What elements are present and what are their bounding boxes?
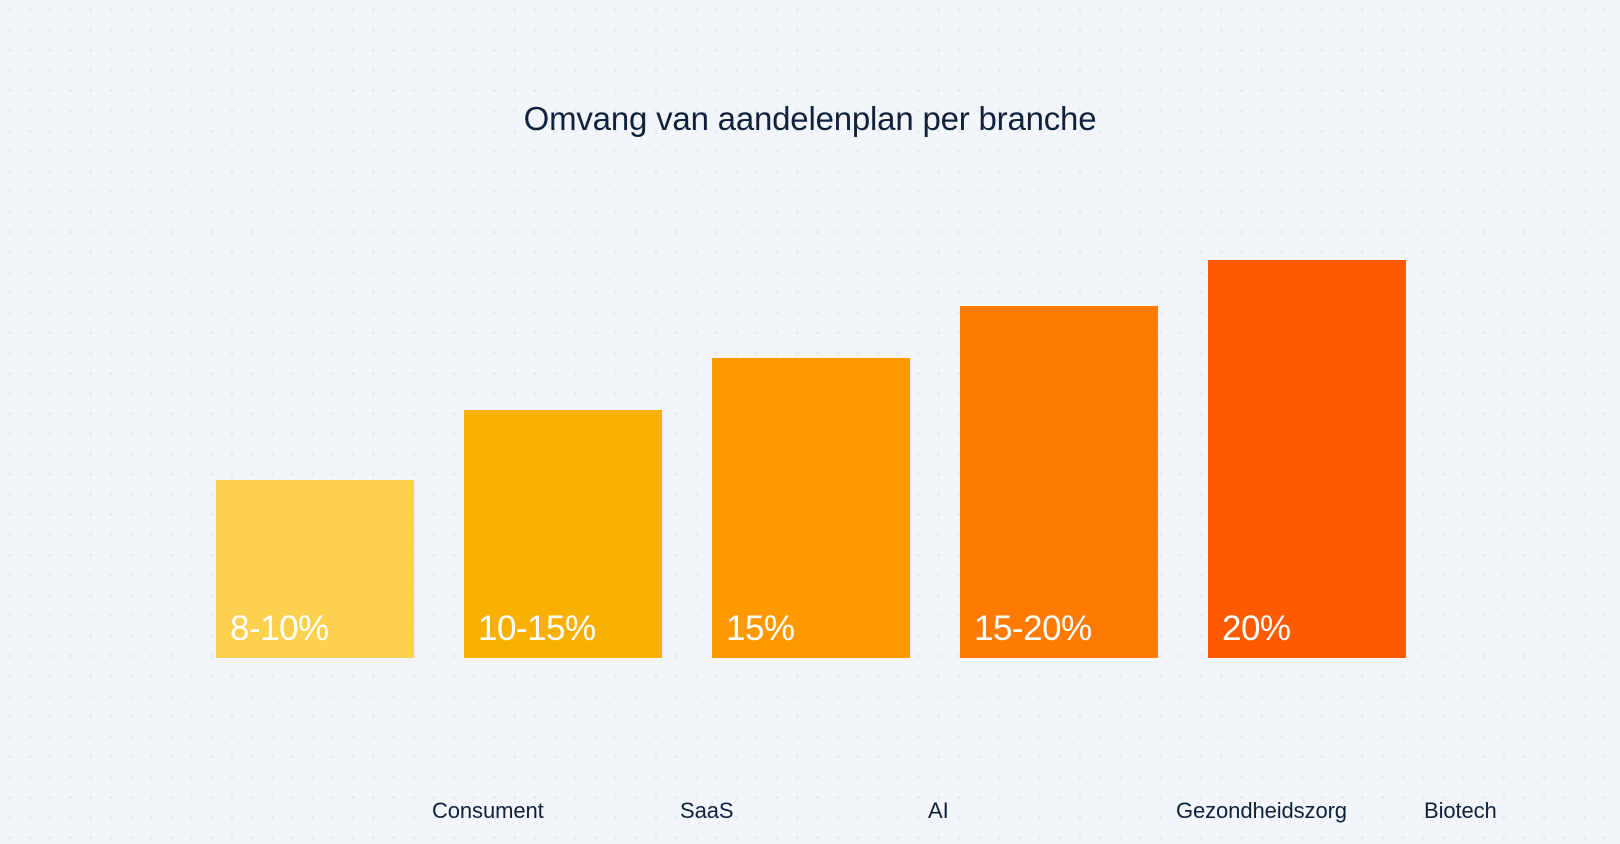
bar-biotech[interactable]: 20%	[1208, 260, 1406, 658]
bar-saas[interactable]: 10-15%	[464, 410, 662, 658]
bar-value-label: 15%	[726, 611, 795, 646]
bar-chart-plot-area: 8-10% Consument 10-15% SaaS 15% AI 15-20…	[216, 120, 1406, 658]
bar-value-label: 20%	[1222, 611, 1291, 646]
bar-ai[interactable]: 15%	[712, 358, 910, 658]
bar-category-label-consument: Consument	[432, 800, 544, 822]
bar-category-label-biotech: Biotech	[1424, 800, 1497, 822]
bar-group-gezondheidszorg: 15-20%	[960, 306, 1158, 658]
bar-category-label-ai: AI	[928, 800, 949, 822]
bar-group-saas: 10-15%	[464, 410, 662, 658]
bar-group-biotech: 20%	[1208, 260, 1406, 658]
bar-group-ai: 15%	[712, 358, 910, 658]
bar-category-label-gezondheidszorg: Gezondheidszorg	[1176, 800, 1347, 822]
bar-value-label: 15-20%	[974, 611, 1092, 646]
bar-consument[interactable]: 8-10%	[216, 480, 414, 658]
bar-value-label: 10-15%	[478, 611, 596, 646]
chart-canvas: Omvang van aandelenplan per branche 8-10…	[0, 0, 1620, 844]
bar-category-label-saas: SaaS	[680, 800, 733, 822]
bar-gezondheidszorg[interactable]: 15-20%	[960, 306, 1158, 658]
bar-value-label: 8-10%	[230, 611, 329, 646]
bar-group-consument: 8-10%	[216, 480, 414, 658]
